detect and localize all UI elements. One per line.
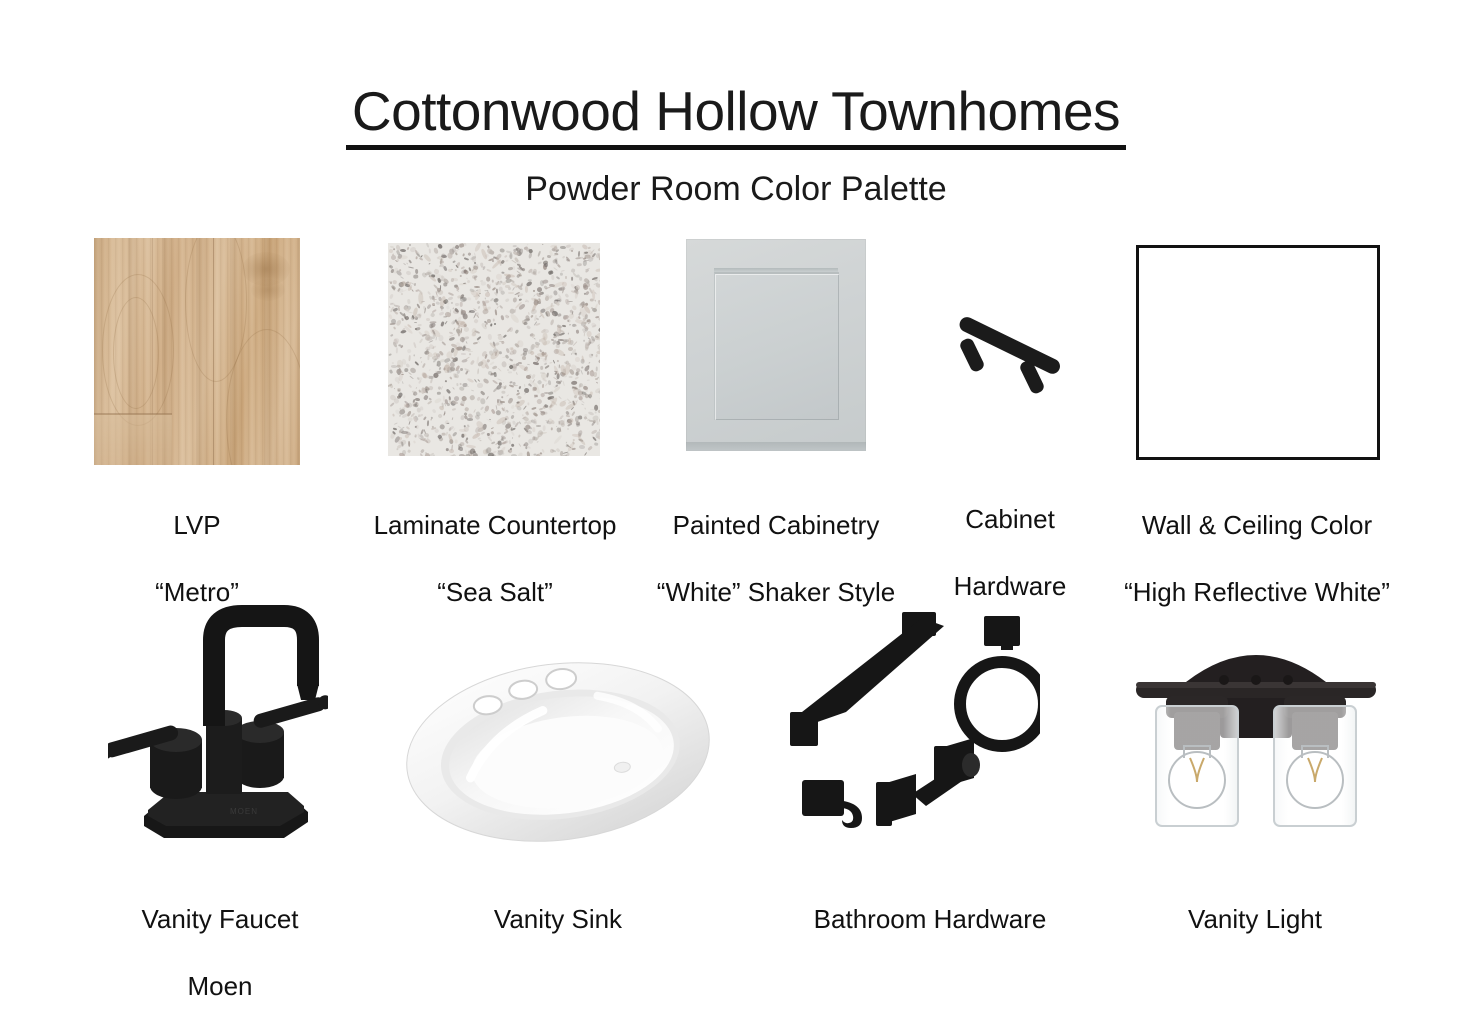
vanity-light-caption: Vanity Light (1130, 870, 1380, 970)
towel-bar-icon (790, 612, 944, 746)
laminate-countertop-swatch (388, 243, 600, 456)
vanity-sink-caption: Vanity Sink (438, 870, 678, 970)
bathroom-hardware-caption: Bathroom Hardware (790, 870, 1070, 970)
robe-hook-icon (802, 780, 862, 828)
wall-caption-line1: Wall & Ceiling Color (1112, 509, 1402, 542)
cabinetry-caption-line1: Painted Cabinetry (642, 509, 910, 542)
vanity-light-caption-line1: Vanity Light (1130, 903, 1380, 936)
laminate-countertop-caption: Laminate Countertop “Sea Salt” (352, 476, 638, 642)
faucet-caption-line1: Vanity Faucet (98, 903, 342, 936)
cabinet-hardware-swatch (945, 298, 1075, 408)
vanity-light-image (1128, 608, 1384, 840)
wall-caption-line2: “High Reflective White” (1112, 576, 1402, 609)
two-light-vanity-fixture-icon (1128, 608, 1384, 840)
vanity-faucet-image: MOEN (108, 600, 328, 850)
bathroom-hardware-caption-line1: Bathroom Hardware (790, 903, 1070, 936)
lvp-caption-line1: LVP (64, 509, 330, 542)
cabinetry-caption-line2: “White” Shaker Style (642, 576, 910, 609)
towel-ring-icon (960, 616, 1040, 746)
vanity-faucet-caption: Vanity Faucet Moen (98, 870, 342, 1036)
bathroom-hardware-image (788, 608, 1040, 840)
sink-caption-line1: Vanity Sink (438, 903, 678, 936)
bar-pull-handle-icon (945, 298, 1075, 408)
wall-ceiling-color-swatch (1136, 245, 1380, 460)
laminate-caption-line1: Laminate Countertop (352, 509, 638, 542)
lvp-flooring-swatch (94, 238, 300, 465)
toilet-paper-holder-icon (876, 738, 980, 826)
color-palette-board: Cottonwood Hollow Townhomes Powder Room … (0, 0, 1472, 1024)
faucet-icon: MOEN (108, 600, 328, 850)
board-header: Cottonwood Hollow Townhomes Powder Room … (0, 84, 1472, 209)
page-title: Cottonwood Hollow Townhomes (346, 84, 1126, 150)
faucet-brand-mark: MOEN (230, 807, 258, 816)
hardware-caption-line1: Cabinet (920, 503, 1100, 536)
towel-bar-ring-hook-icon (788, 608, 1040, 840)
vanity-sink-image (398, 655, 718, 850)
faucet-caption-line2: Moen (98, 970, 342, 1003)
laminate-caption-line2: “Sea Salt” (352, 576, 638, 609)
painted-cabinetry-swatch (686, 239, 866, 451)
oval-sink-icon (398, 655, 718, 850)
hardware-caption-line2: Hardware (920, 570, 1100, 603)
page-subtitle: Powder Room Color Palette (0, 170, 1472, 209)
